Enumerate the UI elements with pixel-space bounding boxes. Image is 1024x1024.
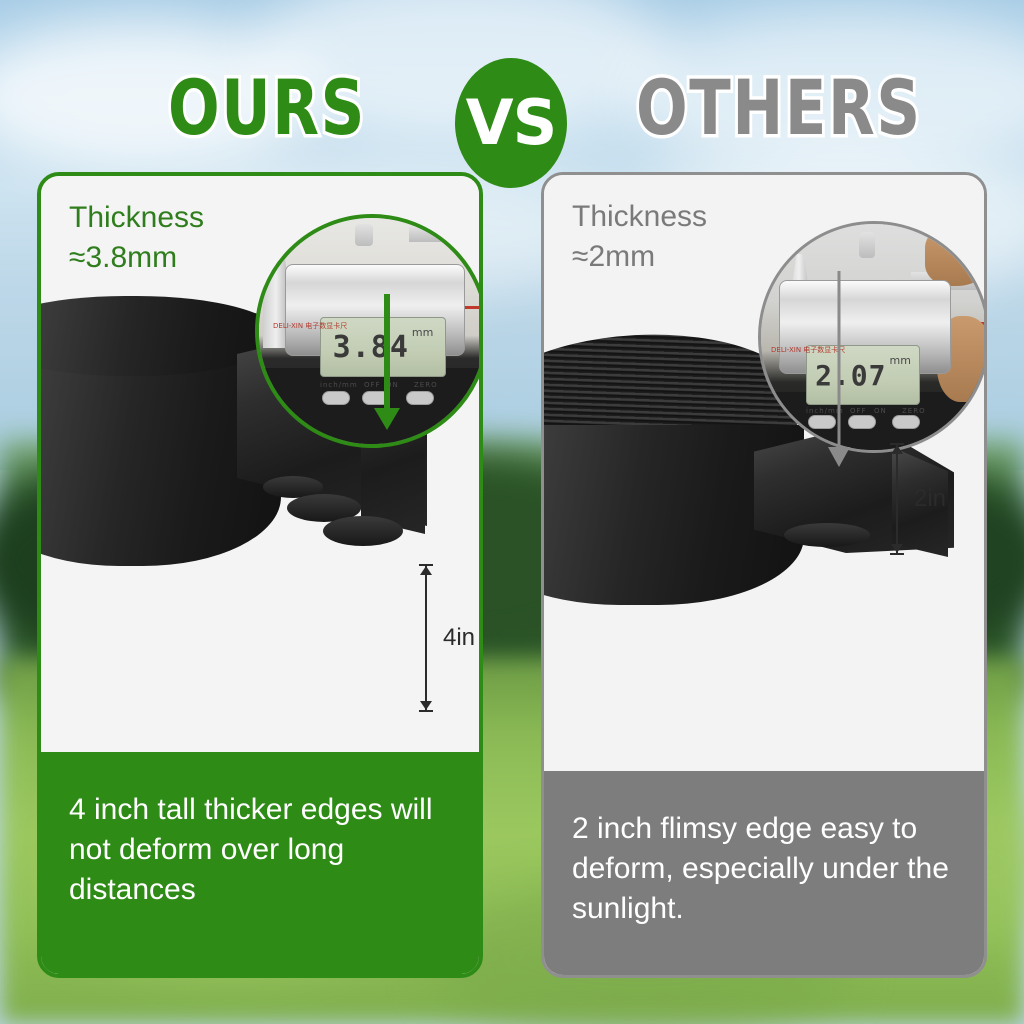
caliper-button-label[interactable]: ZERO — [902, 407, 926, 415]
product-strip — [259, 368, 483, 448]
others-caliper-inset: 2.07 mm inch/mm OFF ON ZERO DELI-XIN 电子数… — [758, 221, 987, 453]
arrow-head-icon — [828, 447, 850, 467]
caliper-button-label[interactable]: ON — [874, 407, 887, 415]
coil-stake-foot — [784, 523, 870, 547]
vs-badge: VS — [455, 58, 567, 188]
dimension-arrow-up-icon — [420, 566, 432, 575]
arrow-shaft — [384, 294, 390, 410]
caliper-button-label[interactable]: ZERO — [414, 381, 438, 389]
arrow-head-icon — [374, 408, 400, 430]
caliper-button-label[interactable]: OFF — [850, 407, 867, 415]
ours-caption: 4 inch tall thicker edges will not defor… — [41, 752, 479, 974]
caliper-screw — [859, 232, 875, 258]
caliper-button[interactable] — [892, 415, 920, 429]
others-card: 2in Thickness ≈2mm 2.07 mm inch/mm OFF O… — [541, 172, 987, 978]
others-caption: 2 inch flimsy edge easy to deform, espec… — [544, 771, 984, 975]
ours-card: 4in Thickness ≈3.8mm 3.84 mm inch/mm OFF… — [37, 172, 483, 978]
caliper-unit: mm — [890, 354, 911, 367]
caliper-rail — [409, 226, 483, 242]
dimension-arrow-up-icon — [891, 445, 903, 454]
caliper-button[interactable] — [322, 391, 350, 405]
caliper-button-label[interactable]: inch/mm — [320, 381, 358, 389]
caliper-reading: 2.07 — [815, 359, 886, 392]
others-dimension-2in: 2in — [890, 443, 960, 555]
comparison-header: OURS VS OTHERS — [0, 28, 1024, 146]
arrow-shaft — [838, 271, 841, 449]
hand-fingers — [925, 226, 987, 286]
ours-caliper-inset: 3.84 mm inch/mm OFF ON ZERO DELI-XIN 电子数… — [255, 214, 483, 448]
ours-thickness-label: Thickness ≈3.8mm — [69, 198, 204, 278]
ours-pointer-arrow — [374, 294, 400, 430]
caliper-brand-text: DELI-XIN 电子数显卡尺 — [273, 322, 347, 330]
caliper-button[interactable] — [406, 391, 434, 405]
caliper-body: 2.07 mm inch/mm OFF ON ZERO — [779, 280, 951, 374]
dimension-line — [425, 564, 427, 712]
vs-badge-label: VS — [466, 92, 557, 154]
dimension-line — [896, 443, 898, 555]
others-pointer-arrow — [828, 271, 850, 467]
caliper-unit: mm — [412, 326, 433, 339]
others-title: OTHERS — [636, 70, 922, 146]
caliper-display: 2.07 mm — [806, 345, 920, 405]
dimension-label: 4in — [443, 624, 475, 652]
dimension-arrow-down-icon — [891, 544, 903, 553]
others-thickness-label: Thickness ≈2mm — [572, 197, 707, 277]
caliper-screw — [355, 224, 373, 246]
coil-stake-foot — [323, 516, 403, 546]
dimension-label: 2in — [914, 485, 946, 513]
caliper-button[interactable] — [848, 415, 876, 429]
ours-title: OURS — [168, 70, 366, 146]
ours-dimension-4in: 4in — [419, 564, 479, 712]
dimension-arrow-down-icon — [420, 701, 432, 710]
